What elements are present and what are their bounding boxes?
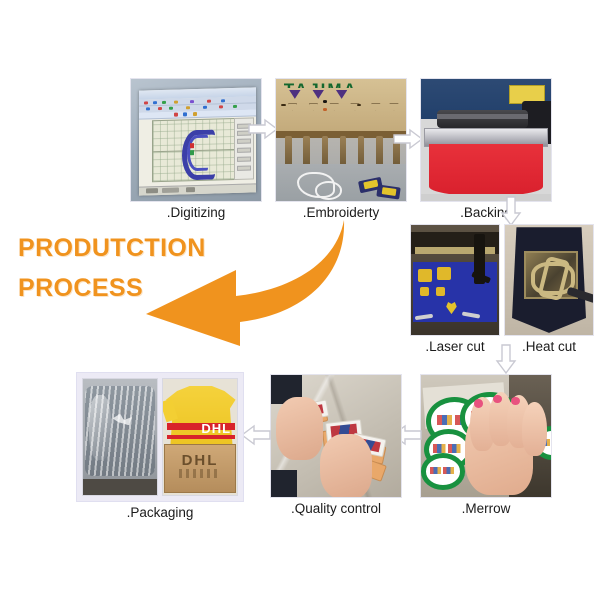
caption-laser-cut: .Laser cut <box>410 336 500 354</box>
production-process-infographic: PRODUTCTION PROCESS <box>0 0 600 600</box>
caption-heat-cut: .Heat cut <box>504 336 594 354</box>
photo-laser-cut <box>410 224 500 336</box>
step-card-embroidery[interactable]: TAJIMA <box>275 78 407 220</box>
caption-merrow: .Merrow <box>420 498 552 516</box>
photo-packaging-bundles <box>82 378 158 496</box>
connector-embroidery-to-backing <box>393 128 423 155</box>
photo-packaging-group: DHL DHL <box>76 372 244 502</box>
caption-packaging: .Packaging <box>76 502 244 520</box>
photo-packaging-dhl: DHL DHL <box>162 378 238 496</box>
step-card-laser-heat-cut[interactable]: .Laser cut .Heat cut <box>410 224 600 354</box>
headline-line-1: PRODUTCTION <box>18 228 268 268</box>
step-card-digitizing[interactable]: .Digitizing <box>130 78 262 220</box>
caption-quality-control: .Quality control <box>270 498 402 516</box>
step-card-quality-control[interactable]: .Quality control <box>270 374 402 516</box>
connector-digitizing-to-embroidery <box>248 118 278 145</box>
step-card-merrow[interactable]: .Merrow <box>420 374 552 516</box>
tajima-logo-text: TAJIMA <box>284 80 375 88</box>
step-card-packaging[interactable]: DHL DHL .Packaging <box>76 372 244 520</box>
dhl-jersey-text: DHL <box>201 421 231 436</box>
photo-embroidery: TAJIMA <box>275 78 407 202</box>
photo-quality-control <box>270 374 402 498</box>
photo-digitizing <box>130 78 262 202</box>
photo-backing <box>420 78 552 202</box>
step-card-backing[interactable]: .Backing <box>420 78 552 220</box>
photo-merrow <box>420 374 552 498</box>
connector-quality-control-to-packaging <box>241 424 271 451</box>
caption-digitizing: .Digitizing <box>130 202 262 220</box>
caption-embroidery: .Embroiderty <box>275 202 407 220</box>
dhl-box-logo: DHL <box>172 452 227 466</box>
headline-line-2: PROCESS <box>18 268 268 308</box>
caption-backing: .Backing <box>420 202 552 220</box>
page-title: PRODUTCTION PROCESS <box>18 228 268 308</box>
photo-heat-cut <box>504 224 594 336</box>
